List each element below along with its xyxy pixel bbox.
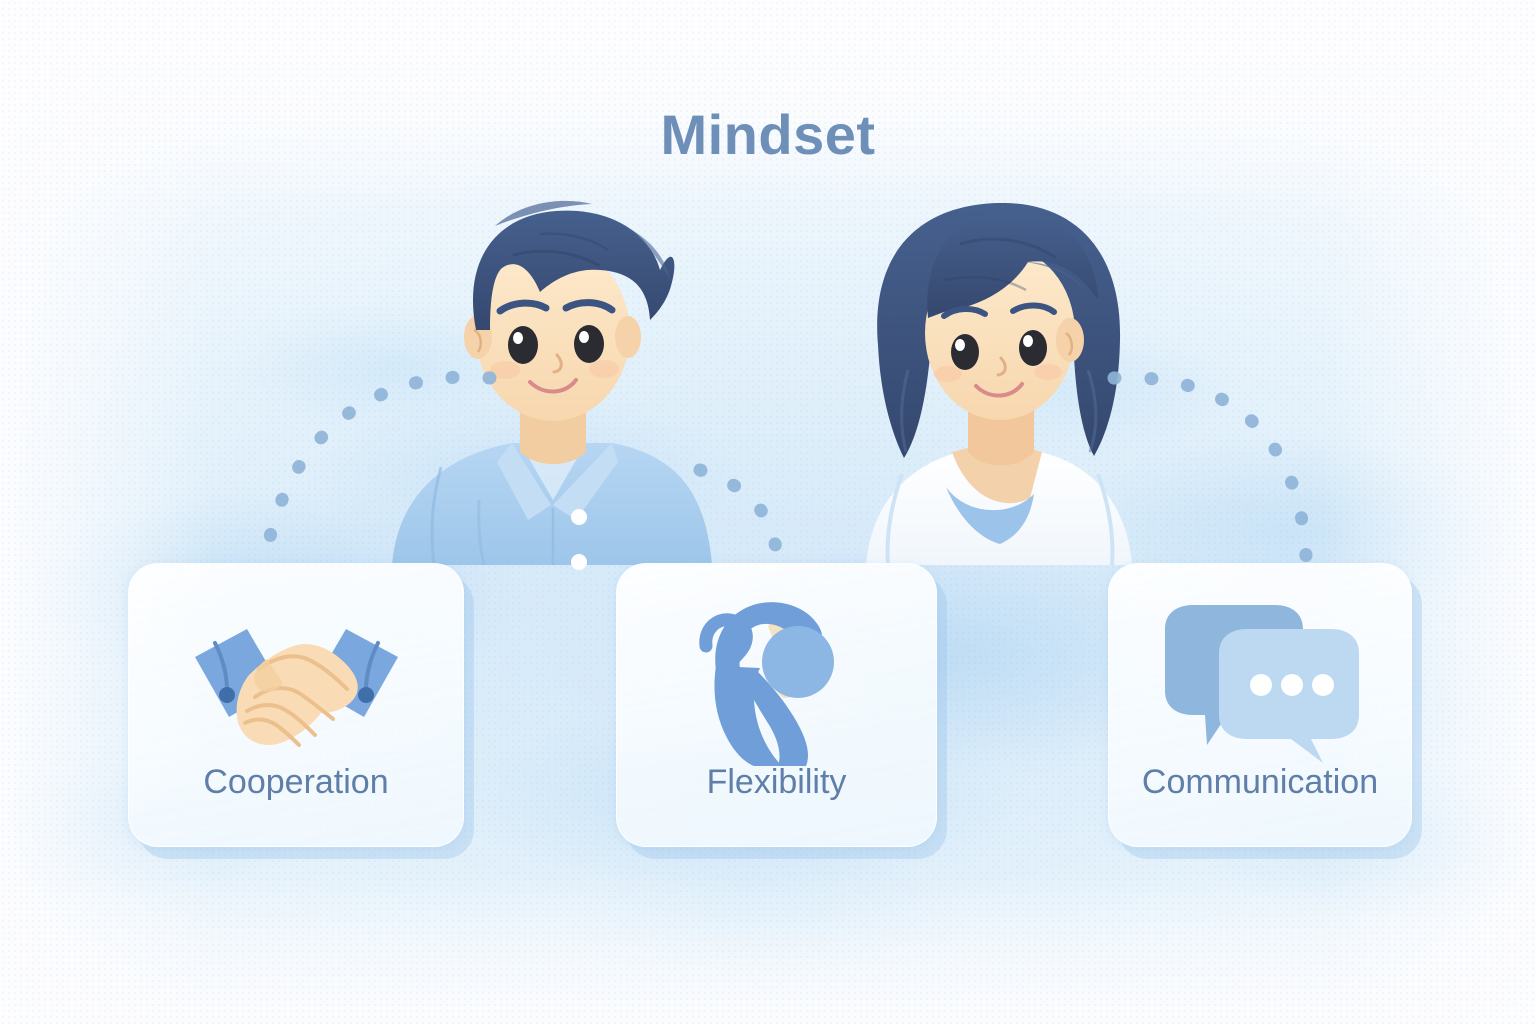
handshake-icon (189, 598, 404, 768)
card-label-cooperation: Cooperation (129, 763, 463, 802)
connector-right-arc (1114, 378, 1306, 556)
card-flexibility[interactable]: Flexibility (616, 563, 937, 847)
stretching-person-icon (682, 598, 872, 768)
card-communication[interactable]: Communication (1108, 563, 1412, 847)
connectors-layer (0, 0, 1536, 1024)
card-label-communication: Communication (1109, 763, 1411, 802)
card-cooperation[interactable]: Cooperation (128, 563, 464, 847)
connector-middle-arc (700, 470, 777, 556)
infographic-canvas: Mindset (0, 0, 1536, 1024)
speech-bubbles-icon (1153, 598, 1368, 768)
connector-left-arc (266, 377, 490, 556)
card-label-flexibility: Flexibility (617, 763, 936, 802)
